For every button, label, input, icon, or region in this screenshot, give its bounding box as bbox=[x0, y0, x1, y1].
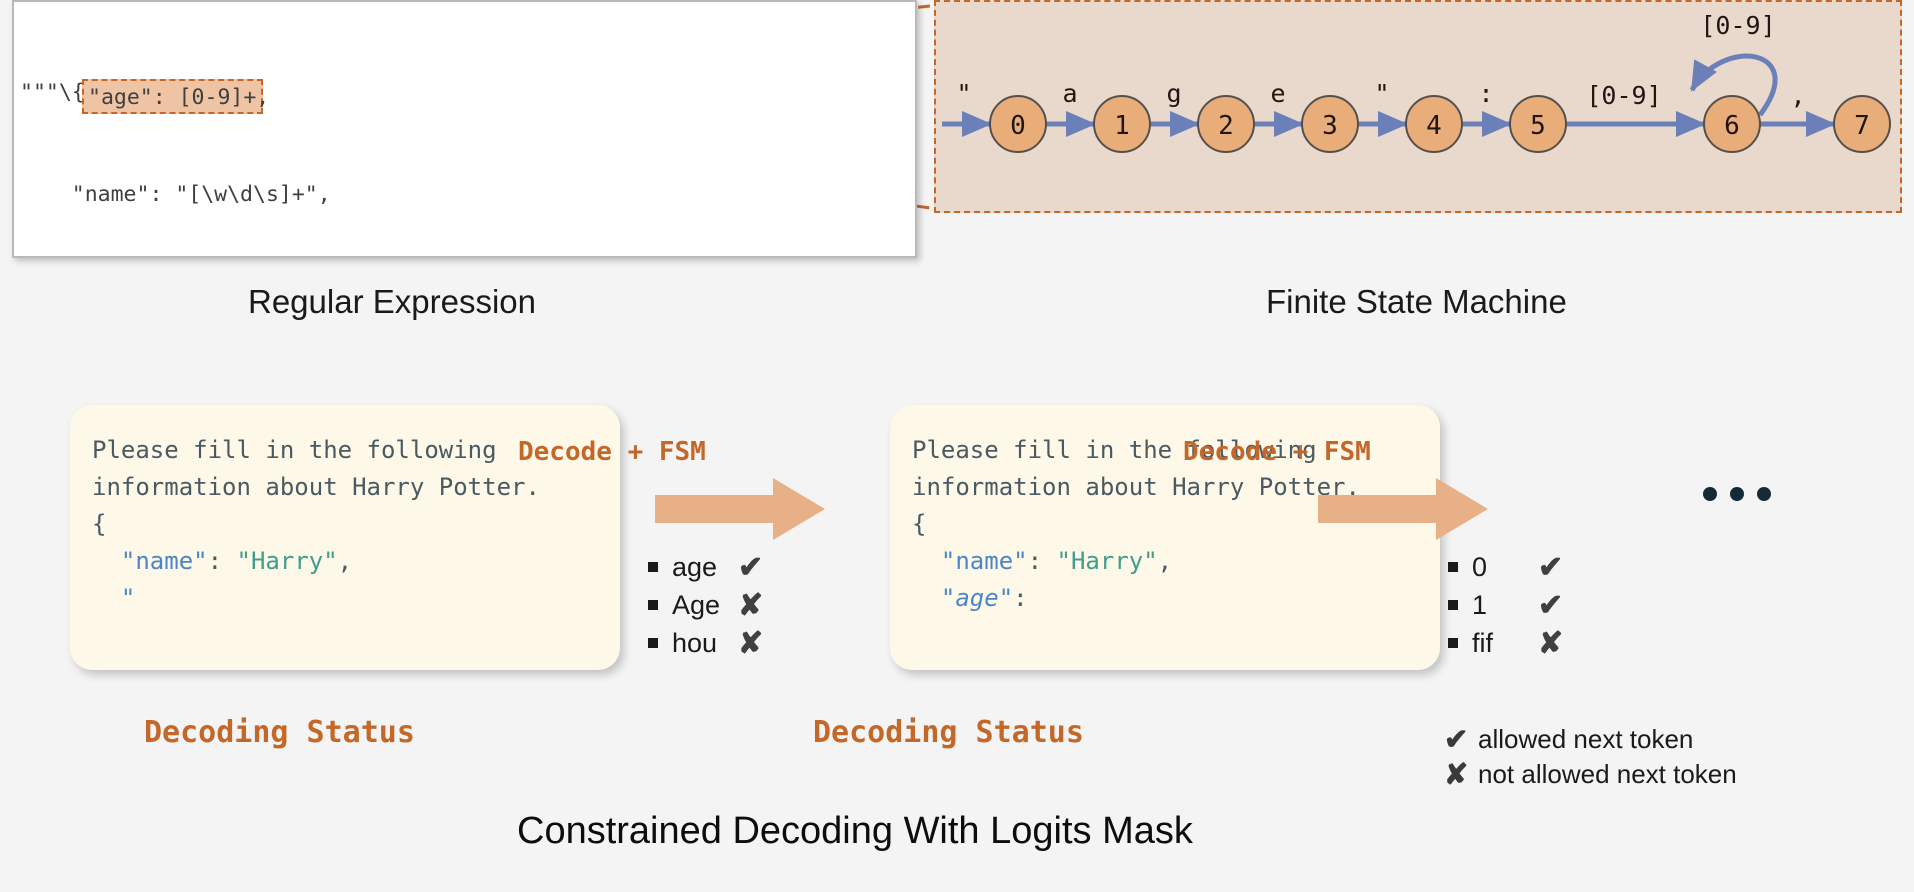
token-label: 1 bbox=[1472, 590, 1534, 621]
prompt-text-step1: Please fill in the followinginformation … bbox=[92, 432, 540, 617]
decode-fsm-label-step2: Decode + FSM bbox=[1183, 437, 1371, 467]
token-label: age bbox=[672, 552, 734, 583]
prompt-segment: : bbox=[1028, 547, 1057, 575]
fsm-edge-label-5-6: [0-9] bbox=[1586, 81, 1661, 110]
decoding-status-caption-step2: Decoding Status bbox=[813, 715, 1084, 750]
bullet-icon bbox=[648, 562, 658, 572]
fsm-node-label-0: 0 bbox=[1010, 111, 1026, 141]
bullet-icon bbox=[648, 638, 658, 648]
token-row: age✔ bbox=[648, 548, 763, 586]
prompt-segment: "name" bbox=[941, 547, 1028, 575]
prompt-segment: Please fill in the following bbox=[92, 436, 497, 464]
fsm-node-label-4: 4 bbox=[1426, 111, 1442, 141]
fsm-diagram: 0 1 2 3 4 5 6 7 " a g e " : [0-9] [0-9] … bbox=[936, 2, 1900, 211]
caption-finite-state-machine: Finite State Machine bbox=[1266, 283, 1567, 321]
bullet-icon bbox=[648, 600, 658, 610]
legend-row: ✘not allowed next token bbox=[1444, 757, 1737, 792]
decode-arrow-step1 bbox=[655, 478, 825, 540]
token-row: 0✔ bbox=[1448, 548, 1563, 586]
prompt-segment: information about Harry Potter. bbox=[92, 473, 540, 501]
check-icon: ✔ bbox=[1538, 588, 1563, 623]
prompt-segment: : bbox=[1013, 584, 1027, 612]
fsm-panel: 0 1 2 3 4 5 6 7 " a g e " : [0-9] [0-9] … bbox=[934, 0, 1902, 213]
fsm-node-label-2: 2 bbox=[1218, 111, 1234, 141]
prompt-segment bbox=[912, 547, 941, 575]
cross-icon: ✘ bbox=[738, 626, 763, 661]
prompt-segment: { bbox=[92, 510, 106, 538]
token-candidates-step1: age✔Age✘hou✘ bbox=[648, 548, 763, 662]
prompt-line: "name": "Harry", bbox=[912, 543, 1360, 580]
fsm-node-label-6: 6 bbox=[1724, 111, 1740, 141]
caption-constrained-decoding: Constrained Decoding With Logits Mask bbox=[517, 810, 1193, 853]
token-row: 1✔ bbox=[1448, 586, 1563, 624]
token-label: hou bbox=[672, 628, 734, 659]
prompt-segment: : bbox=[208, 547, 237, 575]
prompt-segment: , bbox=[338, 547, 352, 575]
decoding-status-caption-step1: Decoding Status bbox=[144, 715, 415, 750]
ellipsis-dot bbox=[1757, 487, 1771, 501]
legend-label: not allowed next token bbox=[1478, 759, 1737, 790]
check-icon: ✔ bbox=[1444, 722, 1478, 757]
fsm-edge-labels: " a g e " : [0-9] [0-9] , bbox=[956, 11, 1805, 110]
regex-code: """\{ "name": "[\w\d\s]+", "house": "(Gr… bbox=[20, 8, 784, 258]
prompt-line: "age": bbox=[912, 580, 1360, 617]
fsm-edge-label-1-2: g bbox=[1166, 79, 1181, 108]
prompt-segment: "Harry" bbox=[1057, 547, 1158, 575]
fsm-edge-label-4-5: : bbox=[1478, 79, 1493, 108]
prompt-segment: { bbox=[912, 510, 926, 538]
decode-arrow-step2 bbox=[1318, 478, 1488, 540]
prompt-segment: information about Harry Potter. bbox=[912, 473, 1360, 501]
prompt-segment: "age" bbox=[941, 584, 1013, 612]
caption-regular-expression: Regular Expression bbox=[248, 283, 536, 321]
prompt-segment bbox=[92, 584, 121, 612]
fsm-edge-label-6-7: , bbox=[1790, 81, 1805, 110]
prompt-line: information about Harry Potter. bbox=[912, 469, 1360, 506]
check-icon: ✔ bbox=[1538, 550, 1563, 585]
legend: ✔allowed next token✘not allowed next tok… bbox=[1444, 722, 1737, 792]
age-rule-text: "age": [0-9]+, bbox=[88, 83, 269, 113]
prompt-line: " bbox=[92, 580, 540, 617]
prompt-line: information about Harry Potter. bbox=[92, 469, 540, 506]
prompt-line: "name": "Harry", bbox=[92, 543, 540, 580]
ellipsis-indicator bbox=[1703, 487, 1771, 501]
legend-row: ✔allowed next token bbox=[1444, 722, 1737, 757]
cross-icon: ✘ bbox=[738, 588, 763, 623]
legend-label: allowed next token bbox=[1478, 724, 1693, 755]
check-icon: ✔ bbox=[738, 550, 763, 585]
token-label: 0 bbox=[1472, 552, 1534, 583]
prompt-segment: , bbox=[1158, 547, 1172, 575]
token-label: fif bbox=[1472, 628, 1534, 659]
bullet-icon bbox=[1448, 562, 1458, 572]
prompt-line: { bbox=[92, 506, 540, 543]
fsm-node-label-7: 7 bbox=[1854, 111, 1870, 141]
regex-panel: """\{ "name": "[\w\d\s]+", "house": "(Gr… bbox=[12, 0, 917, 258]
prompt-segment bbox=[912, 584, 941, 612]
age-rule-highlight: "age": [0-9]+, bbox=[82, 79, 263, 114]
bullet-icon bbox=[1448, 600, 1458, 610]
fsm-edge-label-2-3: e bbox=[1270, 79, 1285, 108]
prompt-segment: "Harry" bbox=[237, 547, 338, 575]
cross-icon: ✘ bbox=[1538, 626, 1563, 661]
fsm-node-label-3: 3 bbox=[1322, 111, 1338, 141]
token-row: fif✘ bbox=[1448, 624, 1563, 662]
prompt-line: { bbox=[912, 506, 1360, 543]
fsm-edge-label-6-6: [0-9] bbox=[1700, 11, 1775, 40]
ellipsis-dot bbox=[1703, 487, 1717, 501]
decode-fsm-label-step1: Decode + FSM bbox=[518, 437, 706, 467]
token-row: hou✘ bbox=[648, 624, 763, 662]
prompt-segment bbox=[92, 547, 121, 575]
bullet-icon bbox=[1448, 638, 1458, 648]
prompt-segment: "name" bbox=[121, 547, 208, 575]
token-candidates-step2: 0✔1✔fif✘ bbox=[1448, 548, 1563, 662]
cross-icon: ✘ bbox=[1444, 757, 1478, 792]
regex-line: "name": "[\w\d\s]+", bbox=[20, 178, 784, 212]
prompt-line: Please fill in the following bbox=[92, 432, 540, 469]
fsm-edge-label-start-0: " bbox=[956, 79, 971, 108]
token-label: Age bbox=[672, 590, 734, 621]
fsm-node-label-5: 5 bbox=[1530, 111, 1546, 141]
fsm-edge-label-3-4: " bbox=[1374, 79, 1389, 108]
token-row: Age✘ bbox=[648, 586, 763, 624]
fsm-node-label-1: 1 bbox=[1114, 111, 1130, 141]
ellipsis-dot bbox=[1730, 487, 1744, 501]
prompt-segment: " bbox=[121, 584, 135, 612]
fsm-edge-label-0-1: a bbox=[1062, 79, 1077, 108]
